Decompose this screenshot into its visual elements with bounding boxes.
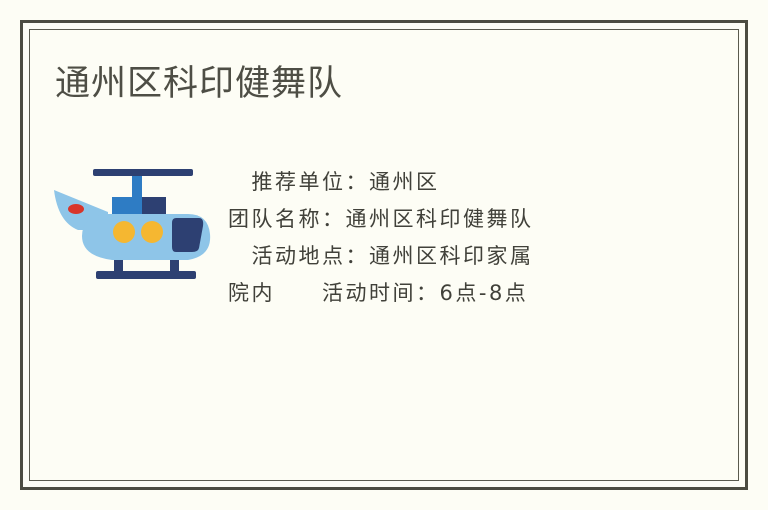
rotor-mast bbox=[132, 176, 142, 197]
landing-strut-left bbox=[114, 260, 123, 272]
window-rear bbox=[141, 221, 163, 243]
engine-housing-left bbox=[112, 197, 142, 214]
engine-housing-right bbox=[142, 197, 166, 214]
info-line-team-name: 团队名称：通州区科印健舞队 bbox=[228, 201, 628, 238]
window-front bbox=[113, 221, 135, 243]
page-title: 通州区科印健舞队 bbox=[55, 62, 343, 106]
landing-skid bbox=[96, 271, 196, 279]
helicopter-icon bbox=[52, 160, 222, 282]
info-line-recommend-unit: 推荐单位：通州区 bbox=[228, 164, 628, 201]
helicopter-illustration bbox=[52, 160, 222, 282]
landing-strut-right bbox=[170, 260, 179, 272]
nose-light-icon bbox=[68, 204, 84, 214]
poster-canvas: 通州区科印健舞队 推荐单 bbox=[0, 0, 768, 510]
info-line-time: 院内 活动时间：6点-8点 bbox=[228, 275, 628, 312]
cockpit-window bbox=[172, 218, 203, 252]
rotor-blade bbox=[93, 169, 193, 176]
info-line-location: 活动地点：通州区科印家属 bbox=[228, 238, 628, 275]
info-block: 推荐单位：通州区 团队名称：通州区科印健舞队 活动地点：通州区科印家属 院内 活… bbox=[228, 164, 628, 312]
